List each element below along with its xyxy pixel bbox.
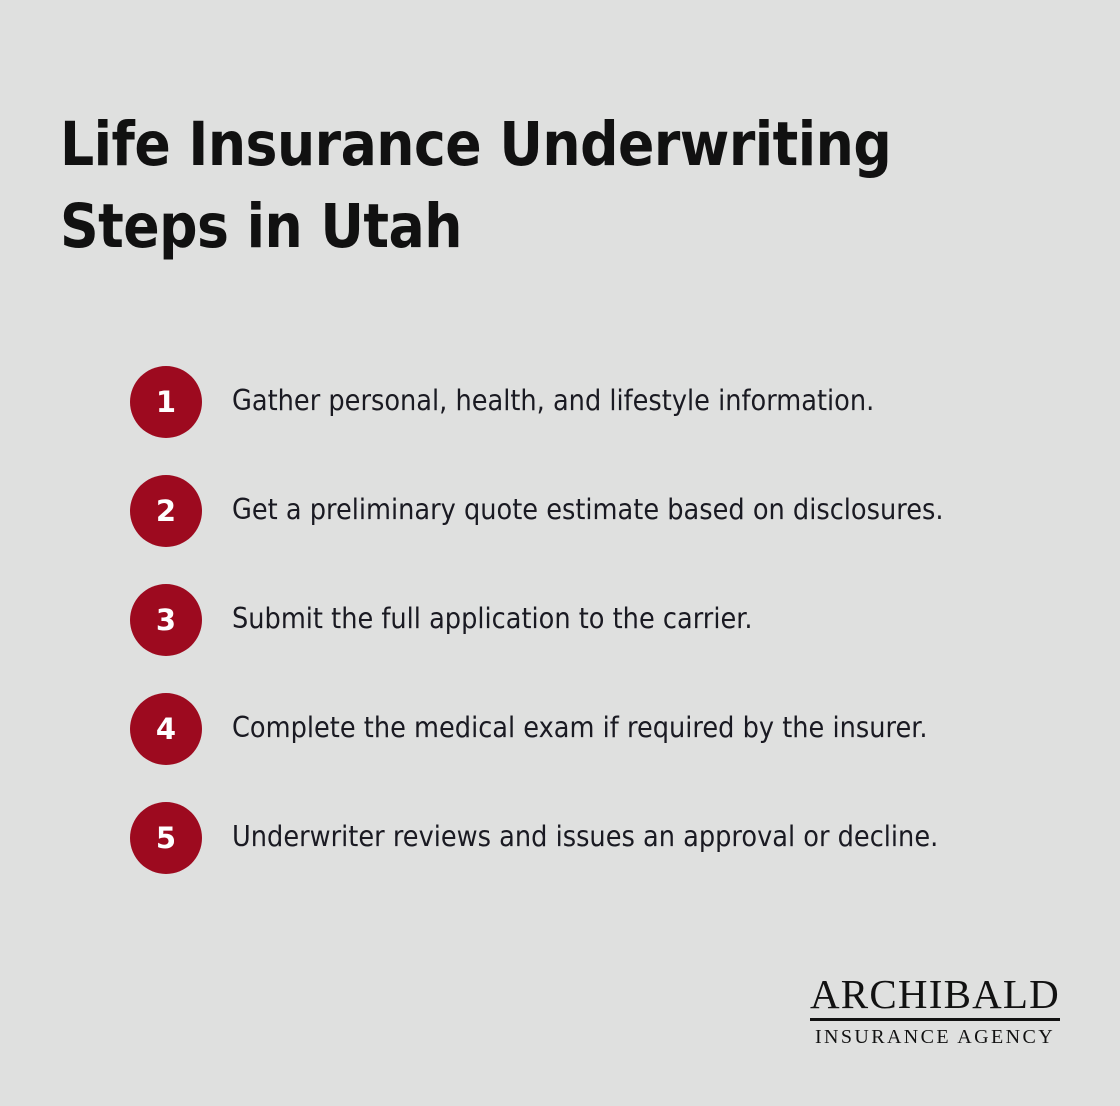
page-title: Life Insurance Underwriting Steps in Uta… <box>60 104 905 269</box>
step-number-badge: 3 <box>130 584 202 656</box>
list-item: 1 Gather personal, health, and lifestyle… <box>130 366 1080 438</box>
infographic-poster: Life Insurance Underwriting Steps in Uta… <box>0 0 1120 1106</box>
step-number-badge: 4 <box>130 693 202 765</box>
step-number-badge: 5 <box>130 802 202 874</box>
step-description: Gather personal, health, and lifestyle i… <box>232 366 995 424</box>
steps-list: 1 Gather personal, health, and lifestyle… <box>130 366 1080 874</box>
list-item: 2 Get a preliminary quote estimate based… <box>130 475 1080 547</box>
step-description: Submit the full application to the carri… <box>232 584 995 642</box>
step-description: Complete the medical exam if required by… <box>232 693 995 751</box>
step-description: Underwriter reviews and issues an approv… <box>232 802 995 860</box>
company-logo: ARCHIBALD INSURANCE AGENCY <box>810 973 1060 1048</box>
logo-tagline: INSURANCE AGENCY <box>810 1026 1060 1048</box>
logo-company-name: ARCHIBALD <box>810 973 1060 1016</box>
step-description: Get a preliminary quote estimate based o… <box>232 475 995 533</box>
logo-divider <box>810 1018 1060 1021</box>
step-number-badge: 2 <box>130 475 202 547</box>
list-item: 5 Underwriter reviews and issues an appr… <box>130 802 1080 874</box>
step-number-badge: 1 <box>130 366 202 438</box>
list-item: 3 Submit the full application to the car… <box>130 584 1080 656</box>
list-item: 4 Complete the medical exam if required … <box>130 693 1080 765</box>
